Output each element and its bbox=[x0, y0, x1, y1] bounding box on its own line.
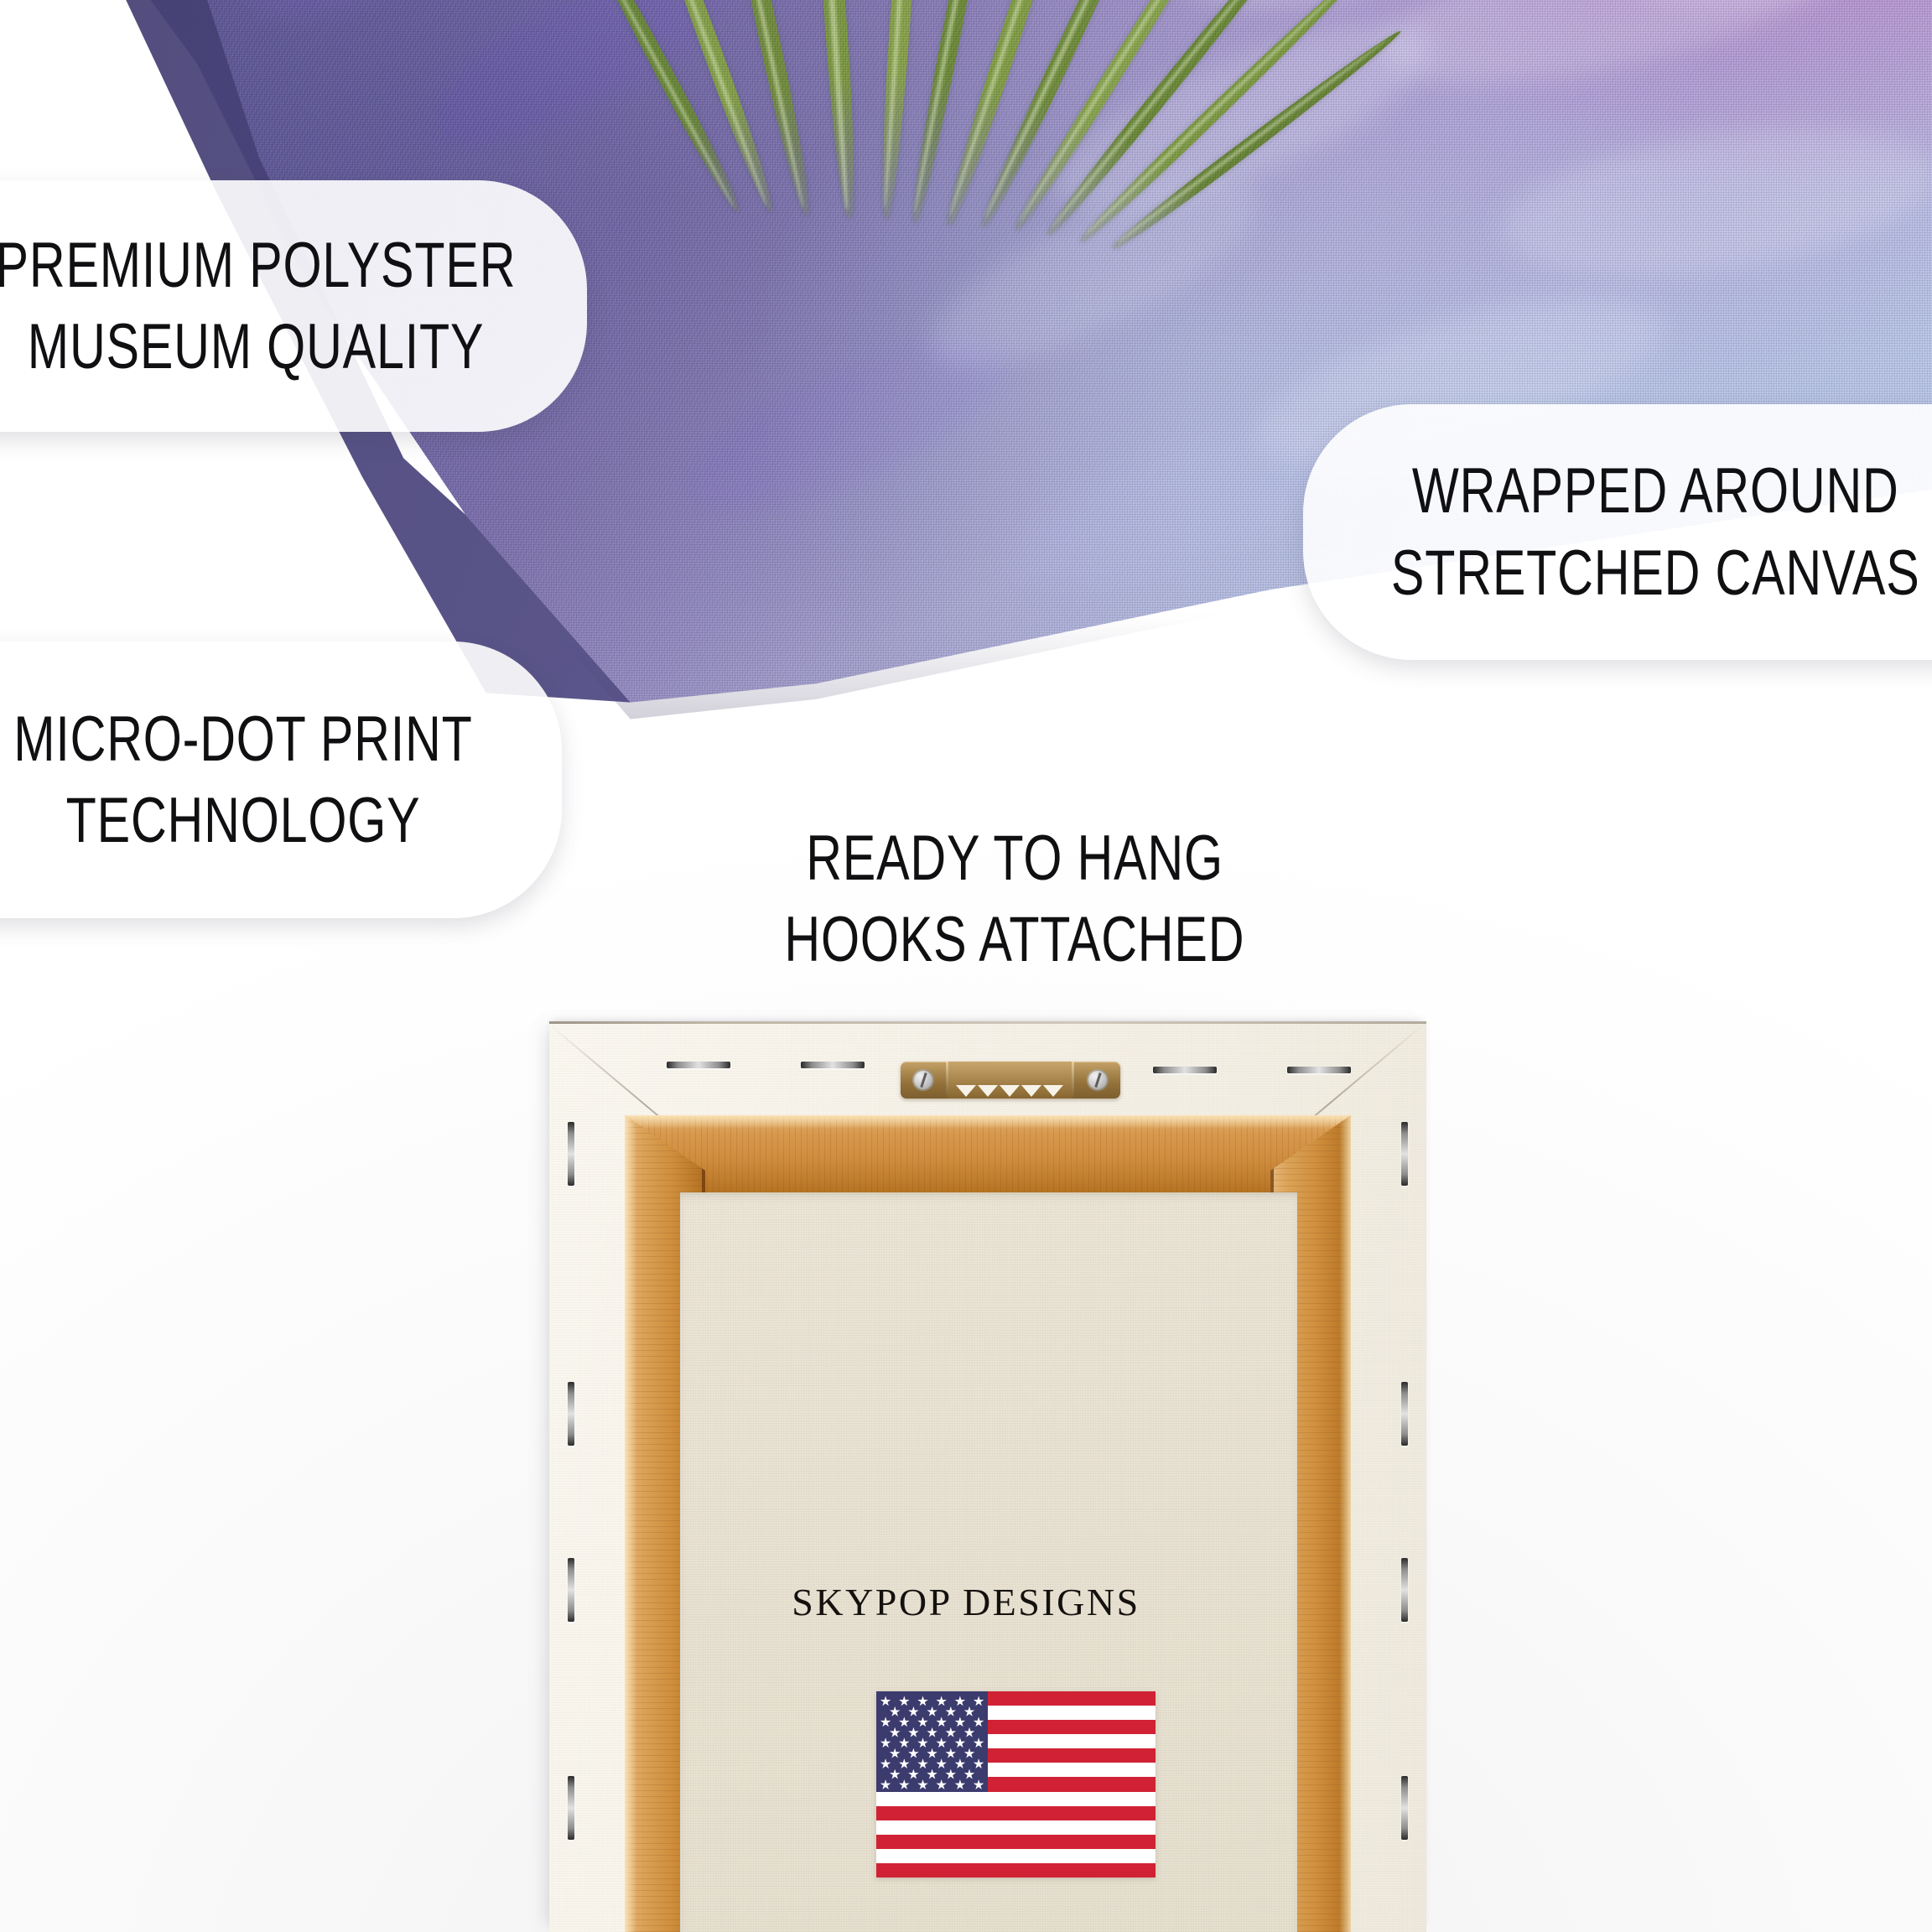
flag-stripe bbox=[876, 1835, 1156, 1849]
hanger-tooth bbox=[1043, 1085, 1063, 1097]
staple bbox=[568, 1776, 574, 1840]
flag-stripe bbox=[876, 1792, 1156, 1806]
staple bbox=[1401, 1122, 1408, 1186]
hanger-tooth bbox=[956, 1085, 976, 1097]
feature-line-2: TECHNOLOGY bbox=[66, 780, 421, 861]
feature-line-2: MUSEUM QUALITY bbox=[28, 306, 485, 387]
frame-highlight-right bbox=[1339, 1115, 1351, 1932]
staple bbox=[667, 1062, 730, 1068]
frame-highlight-left bbox=[625, 1115, 636, 1932]
hanger-tooth bbox=[1000, 1085, 1020, 1097]
staple bbox=[1401, 1776, 1408, 1840]
feature-label-ready-to-hang: READY TO HANG HOOKS ATTACHED bbox=[738, 818, 1291, 981]
staple bbox=[568, 1382, 574, 1446]
staple bbox=[801, 1062, 865, 1068]
hanger-tooth bbox=[1021, 1085, 1041, 1097]
flag-stripe bbox=[876, 1863, 1156, 1877]
frame-highlight-top bbox=[625, 1115, 1351, 1129]
hanger-tooth bbox=[978, 1085, 998, 1097]
united-states-flag bbox=[876, 1691, 1156, 1877]
flag-stripe bbox=[876, 1849, 1156, 1863]
flag-stripe bbox=[876, 1820, 1156, 1835]
feature-line-1: PREMIUM POLYSTER bbox=[0, 225, 516, 306]
sawtooth-hanger bbox=[901, 1062, 1120, 1098]
feature-label-premium-polyster: PREMIUM POLYSTER MUSEUM QUALITY bbox=[0, 180, 587, 432]
flag-stripe bbox=[876, 1806, 1156, 1820]
canvas-top-edge bbox=[549, 1021, 1426, 1024]
feature-line-1: MICRO-DOT PRINT bbox=[13, 699, 472, 780]
hanger-screw-left bbox=[912, 1069, 934, 1091]
feature-line-1: READY TO HANG bbox=[806, 818, 1223, 899]
product-infographic: PREMIUM POLYSTER MUSEUM QUALITY MICRO-DO… bbox=[0, 0, 1932, 1932]
staple bbox=[1287, 1067, 1351, 1073]
stretcher-bar-top bbox=[625, 1115, 1351, 1196]
feature-line-2: STRETCHED CANVAS bbox=[1391, 532, 1920, 614]
feature-label-wrapped-canvas: WRAPPED AROUND STRETCHED CANVAS bbox=[1303, 404, 1932, 660]
feature-line-2: HOOKS ATTACHED bbox=[785, 899, 1245, 980]
staple bbox=[1153, 1067, 1217, 1073]
hanger-rib-left bbox=[946, 1062, 948, 1098]
staple bbox=[568, 1122, 574, 1186]
hanger-screw-right bbox=[1087, 1069, 1109, 1091]
staple bbox=[1401, 1382, 1408, 1446]
hanger-rib-right bbox=[1072, 1062, 1074, 1098]
feature-line-1: WRAPPED AROUND bbox=[1412, 450, 1899, 532]
feature-label-micro-dot-print: MICRO-DOT PRINT TECHNOLOGY bbox=[0, 641, 562, 918]
brand-name: SKYPOP DESIGNS bbox=[0, 1580, 1932, 1624]
